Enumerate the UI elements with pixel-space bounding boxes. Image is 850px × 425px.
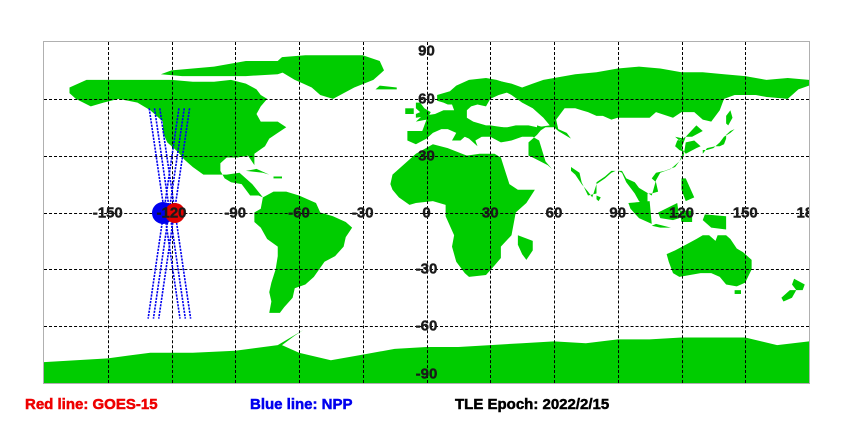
land-polygon-9 xyxy=(405,108,414,114)
lat-tick-30: 30 xyxy=(418,147,435,164)
world-map: -300306090120150180-150-120-90-60906030-… xyxy=(43,41,810,384)
legend-tle-epoch: TLE Epoch: 2022/2/15 xyxy=(455,396,609,413)
land-polygon-11 xyxy=(482,67,809,169)
lat-tick--30: -30 xyxy=(416,261,438,278)
land-polygon-27 xyxy=(726,110,732,125)
land-polygon-1 xyxy=(274,55,385,99)
lat-tick--60: -60 xyxy=(416,318,438,335)
land-polygon-19 xyxy=(682,178,695,201)
land-polygon-23 xyxy=(781,290,796,301)
land-polygon-6 xyxy=(518,235,533,260)
lon-tick--30: -30 xyxy=(352,204,374,221)
lon-tick-120: 120 xyxy=(669,204,694,221)
lon-tick--60: -60 xyxy=(288,204,310,221)
legend: Red line: GOES-15 Blue line: NPP TLE Epo… xyxy=(0,394,850,420)
land-polygon-25 xyxy=(246,169,269,175)
lon-tick--120: -120 xyxy=(156,204,186,221)
land-polygon-20 xyxy=(667,235,752,286)
lon-tick--150: -150 xyxy=(93,204,123,221)
land-polygon-22 xyxy=(792,279,805,290)
lon-tick-90: 90 xyxy=(609,204,626,221)
legend-npp: Blue line: NPP xyxy=(250,396,353,413)
land-polygon-24 xyxy=(597,195,601,201)
land-polygon-15 xyxy=(652,224,671,228)
land-polygon-18 xyxy=(703,214,726,229)
lon-tick-150: 150 xyxy=(733,204,758,221)
land-polygon-26 xyxy=(274,177,283,179)
lat-tick-90: 90 xyxy=(418,43,435,60)
lat-tick-60: 60 xyxy=(418,90,435,107)
lon-tick-0: 0 xyxy=(422,204,430,221)
legend-goes15: Red line: GOES-15 xyxy=(25,396,158,413)
lat-tick--90: -90 xyxy=(416,366,438,383)
land-polygon-13 xyxy=(703,129,735,154)
lon-tick-180: 180 xyxy=(796,204,810,221)
land-polygon-3 xyxy=(70,80,287,197)
land-polygon-21 xyxy=(735,290,741,294)
land-polygon-12 xyxy=(571,125,703,208)
lon-tick--90: -90 xyxy=(224,204,246,221)
lon-tick-30: 30 xyxy=(482,204,499,221)
lon-tick-60: 60 xyxy=(546,204,563,221)
land-polygon-2 xyxy=(161,61,295,76)
land-polygon-5 xyxy=(390,144,535,277)
land-polygon-10 xyxy=(376,86,397,90)
